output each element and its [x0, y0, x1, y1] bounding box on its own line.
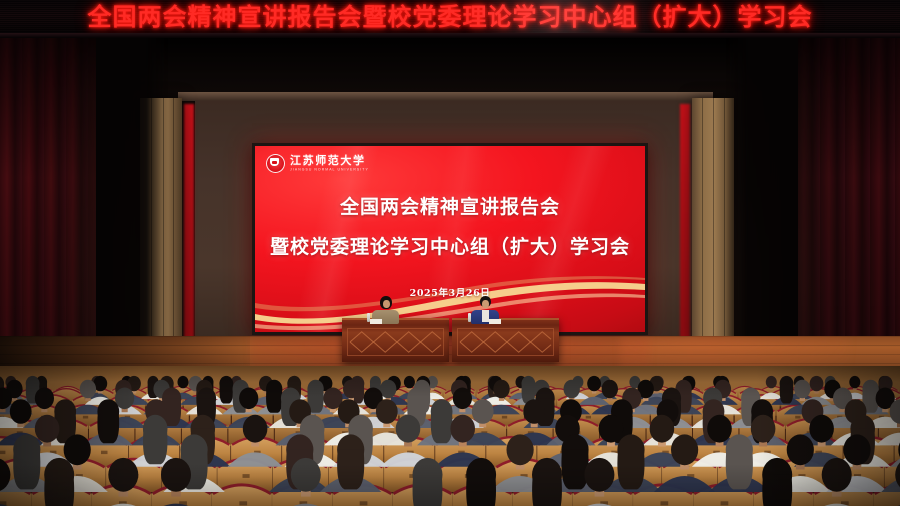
banner-underline: [0, 33, 900, 38]
stage-wing-right: [726, 38, 798, 350]
red-light-slab-right: [680, 104, 690, 342]
screen-surface: 江苏师范大学 JIANGSU NORMAL UNIVERSITY 全国两会精神宣…: [255, 146, 645, 332]
speaker-left-papers: [370, 319, 382, 324]
speaker-right-shirt: [482, 310, 489, 322]
screen-date: 2025年3月26日: [255, 285, 645, 299]
presidium-table-left: [342, 318, 449, 362]
speaker-left-face: [383, 300, 390, 308]
presentation-screen: 江苏师范大学 JIANGSU NORMAL UNIVERSITY 全国两会精神宣…: [252, 143, 648, 335]
led-marquee-banner: 全国两会精神宣讲报告会暨校党委理论学习中心组（扩大）学习会: [0, 0, 900, 34]
university-logo: 江苏师范大学 JIANGSU NORMAL UNIVERSITY: [266, 154, 369, 173]
university-crest-icon: [266, 154, 285, 173]
stage-wing-left: [96, 38, 168, 350]
wall-top-trim: [178, 92, 713, 101]
screen-title-block: 全国两会精神宣讲报告会 暨校党委理论学习中心组（扩大）学习会 2025年3月26…: [255, 192, 645, 299]
audience-seats-and-people: [0, 366, 900, 506]
university-name-en: JIANGSU NORMAL UNIVERSITY: [290, 168, 369, 172]
presidium-speaker-left: [368, 296, 402, 324]
auditorium-photo: 全国两会精神宣讲报告会暨校党委理论学习中心组（扩大）学习会 江苏师范大学 JIA…: [0, 0, 900, 506]
presidium-table-right: [452, 318, 559, 362]
presidium-speaker-right: [468, 296, 502, 324]
speaker-left-bottle: [367, 313, 370, 322]
screen-title-line-1: 全国两会精神宣讲报告会: [255, 192, 645, 219]
speaker-right-bottle: [468, 313, 471, 322]
speaker-right-face: [482, 300, 489, 308]
audience-area: [0, 366, 900, 506]
screen-title-line-2: 暨校党委理论学习中心组（扩大）学习会: [255, 232, 645, 259]
led-banner-text: 全国两会精神宣讲报告会暨校党委理论学习中心组（扩大）学习会: [0, 1, 900, 33]
speaker-right-papers: [489, 319, 501, 324]
red-light-slab-left: [184, 104, 194, 342]
university-name-cn: 江苏师范大学: [290, 155, 369, 166]
